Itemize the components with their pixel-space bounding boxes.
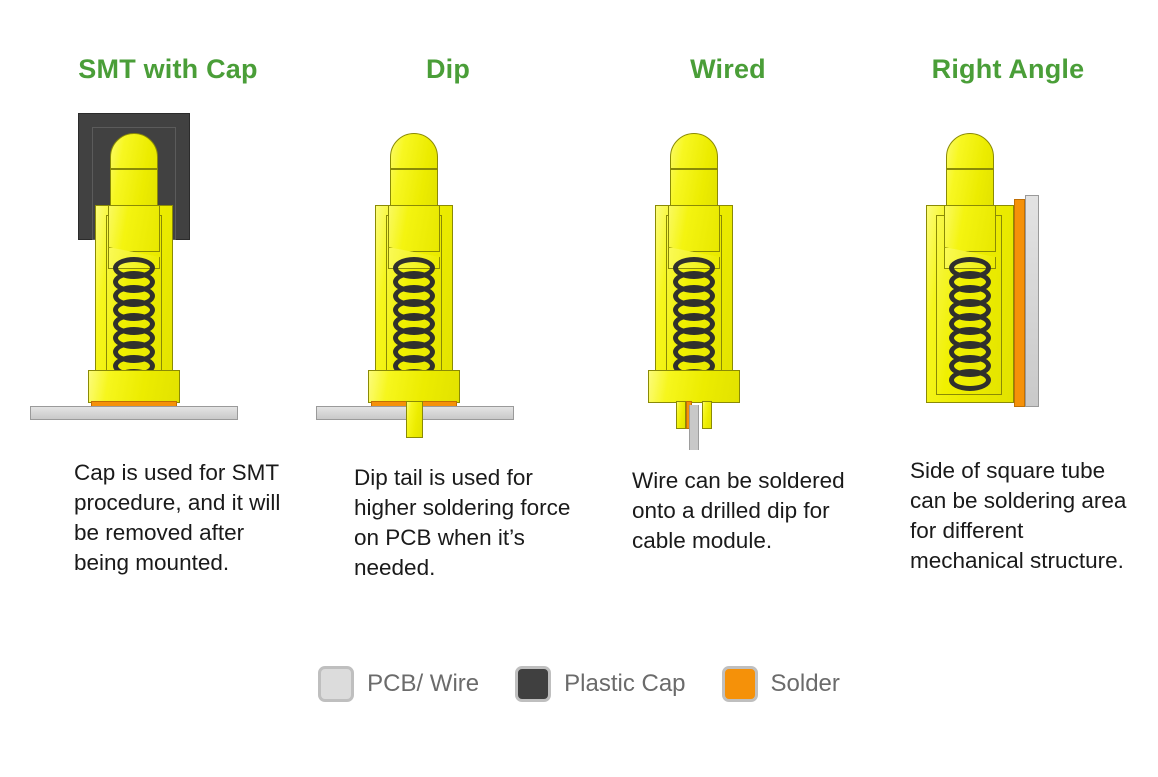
legend: PCB/ Wire Plastic Cap Solder (0, 666, 1158, 702)
drilled-dip-prong-right (702, 401, 712, 429)
pin-illustration-right-angle (868, 105, 1148, 435)
variant-column-smt-with-cap: SMT with Cap (28, 0, 308, 660)
pin-inner-shank (944, 205, 996, 252)
column-caption: Wire can be soldered onto a drilled dip … (632, 466, 864, 556)
legend-label: PCB/ Wire (367, 670, 479, 698)
variant-column-dip: Dip Dip tail is (308, 0, 588, 660)
pin-bottom-flange (368, 370, 460, 403)
drilled-dip-prong-left (676, 401, 686, 429)
legend-item-pcb-wire: PCB/ Wire (318, 666, 479, 702)
variant-column-right-angle: Right Angle Side of square tub (868, 0, 1148, 660)
solder-layer (1014, 199, 1025, 407)
pin-inner-shank (388, 205, 440, 252)
pin-inner-shank (668, 205, 720, 252)
legend-label: Plastic Cap (564, 670, 685, 698)
dip-tail (406, 401, 423, 438)
legend-item-solder: Solder (722, 666, 840, 702)
pin-bottom-flange (648, 370, 740, 403)
legend-swatch-pcb-wire-icon (318, 666, 354, 702)
pin-spring (949, 257, 991, 395)
pcb-board (1025, 195, 1039, 407)
pin-illustration-smt-with-cap (28, 105, 308, 435)
column-heading: Right Angle (868, 54, 1148, 85)
legend-label: Solder (771, 670, 840, 698)
column-heading: Wired (588, 54, 868, 85)
pin-bottom-flange (88, 370, 180, 403)
column-heading: SMT with Cap (28, 54, 308, 85)
pin-illustration-wired (588, 105, 868, 435)
pin-illustration-dip (308, 105, 588, 435)
legend-item-plastic-cap: Plastic Cap (515, 666, 685, 702)
column-caption: Dip tail is used for higher soldering fo… (354, 463, 586, 583)
pcb-board (30, 406, 238, 420)
column-caption: Cap is used for SMT procedure, and it wi… (74, 458, 284, 578)
diagram-canvas: SMT with Cap (0, 0, 1158, 777)
wire-lead (689, 405, 699, 450)
column-heading: Dip (308, 54, 588, 85)
legend-swatch-plastic-cap-icon (515, 666, 551, 702)
pin-inner-shank (108, 205, 160, 252)
column-caption: Side of square tube can be soldering are… (910, 456, 1142, 576)
variant-column-wired: Wired Wi (588, 0, 868, 660)
legend-swatch-solder-icon (722, 666, 758, 702)
